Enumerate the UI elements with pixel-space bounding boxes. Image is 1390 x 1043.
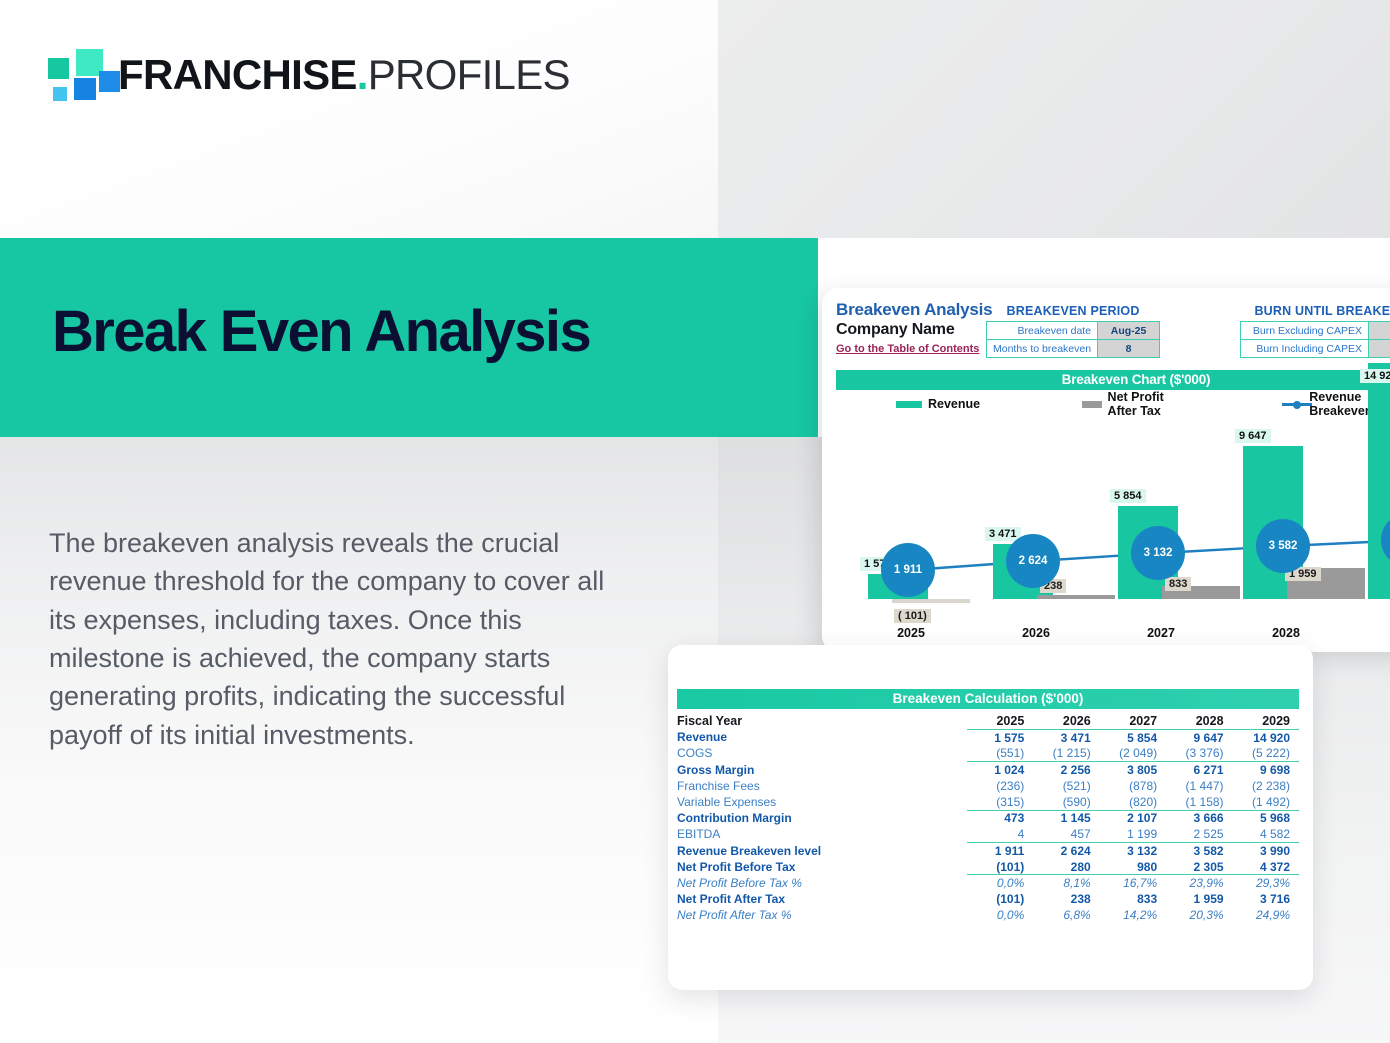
- burn-including-capex-value: [1369, 340, 1390, 358]
- breakeven-bubble-2028: 3 582: [1256, 519, 1310, 573]
- table-cell: 1 024: [967, 762, 1033, 778]
- table-cell: 4 582: [1233, 826, 1299, 842]
- months-to-breakeven-label: Months to breakeven: [987, 340, 1098, 358]
- x-axis-label-2025: 2025: [868, 626, 954, 640]
- breakeven-period-heading: BREAKEVEN PERIOD: [986, 304, 1160, 318]
- brand-name-light: PROFILES: [368, 51, 570, 98]
- row-label: Revenue Breakeven level: [677, 843, 967, 859]
- table-cell: (315): [967, 794, 1033, 810]
- legend-label-revenue: Revenue: [928, 397, 980, 411]
- table-cell: (590): [1033, 794, 1099, 810]
- table-cell: 2 525: [1166, 826, 1232, 842]
- table-row: Net Profit After Tax %0,0%6,8%14,2%20,3%…: [677, 907, 1299, 923]
- breakeven-calculation-card: Breakeven Calculation ($'000) Fiscal Yea…: [668, 645, 1313, 990]
- legend-label-npat: Net Profit After Tax: [1108, 390, 1192, 418]
- table-cell: 8,1%: [1033, 875, 1099, 891]
- table-cell: 0,0%: [967, 875, 1033, 891]
- table-cell: 980: [1100, 859, 1166, 875]
- column-header-2029: 2029: [1233, 713, 1299, 729]
- chart-legend: Revenue Net Profit After Tax Revenue Bre…: [836, 394, 1390, 414]
- table-row: Net Profit Before Tax %0,0%8,1%16,7%23,9…: [677, 875, 1299, 891]
- table-cell: 3 471: [1033, 729, 1099, 745]
- row-label: Net Profit After Tax: [677, 891, 967, 907]
- row-label: Net Profit Before Tax %: [677, 875, 967, 891]
- table-cell: 280: [1033, 859, 1099, 875]
- table-cell: 6 271: [1166, 762, 1232, 778]
- table-cell: 3 666: [1166, 810, 1232, 826]
- table-cell: (3 376): [1166, 745, 1232, 761]
- breakeven-period-table: Breakeven date Aug-25 Months to breakeve…: [986, 321, 1160, 358]
- line-marker-icon: [1282, 399, 1305, 409]
- background-panel-top-left: [0, 0, 718, 238]
- burn-until-breakeven-heading: BURN UNTIL BREAKEVEN: [1240, 304, 1390, 318]
- row-label: Variable Expenses: [677, 794, 967, 810]
- logo-mark-icon: [45, 47, 107, 103]
- blue-square-2-icon: [99, 71, 120, 92]
- table-cell: (820): [1100, 794, 1166, 810]
- revenue-label-2029: 14 920: [1360, 369, 1390, 383]
- row-label: COGS: [677, 745, 967, 761]
- table-cell: 2 256: [1033, 762, 1099, 778]
- legend-item-revenue: Revenue: [896, 397, 980, 411]
- table-row: EBITDA44571 1992 5254 582: [677, 826, 1299, 842]
- table-cell: 2 624: [1033, 843, 1099, 859]
- row-label: Contribution Margin: [677, 810, 967, 826]
- breakeven-period-box: BREAKEVEN PERIOD Breakeven date Aug-25 M…: [986, 304, 1160, 358]
- table-row: Months to breakeven 8: [987, 340, 1160, 358]
- burn-including-capex-label: Burn Including CAPEX: [1241, 340, 1369, 358]
- table-cell: 3 716: [1233, 891, 1299, 907]
- x-axis-label-2026: 2026: [993, 626, 1079, 640]
- revenue-swatch-icon: [896, 401, 922, 408]
- row-label: Gross Margin: [677, 762, 967, 778]
- hero-body-text: The breakeven analysis reveals the cruci…: [49, 524, 619, 754]
- table-cell: (1 215): [1033, 745, 1099, 761]
- table-row: Burn Excluding CAPEX: [1241, 322, 1390, 340]
- table-cell: 9 647: [1166, 729, 1232, 745]
- blue-square-icon: [74, 78, 96, 100]
- brand-dot: .: [357, 51, 368, 98]
- revenue-label-2028: 9 647: [1235, 429, 1271, 443]
- breakeven-date-label: Breakeven date: [987, 322, 1098, 340]
- column-header-2026: 2026: [1033, 713, 1099, 729]
- table-cell: 20,3%: [1166, 907, 1232, 923]
- column-header-fiscal-year: Fiscal Year: [677, 713, 967, 729]
- table-cell: (1 447): [1166, 778, 1232, 794]
- table-cell: (2 238): [1233, 778, 1299, 794]
- table-row: Revenue1 5753 4715 8549 64714 920: [677, 729, 1299, 745]
- table-cell: 14 920: [1233, 729, 1299, 745]
- table-cell: 1 199: [1100, 826, 1166, 842]
- x-axis-label-2027: 2027: [1118, 626, 1204, 640]
- table-row: Net Profit Before Tax(101)2809802 3054 3…: [677, 859, 1299, 875]
- legend-item-npat: Net Profit After Tax: [1082, 390, 1192, 418]
- table-row: Franchise Fees(236)(521)(878)(1 447)(2 2…: [677, 778, 1299, 794]
- table-cell: 16,7%: [1100, 875, 1166, 891]
- table-cell: 3 132: [1100, 843, 1166, 859]
- table-cell: 6,8%: [1033, 907, 1099, 923]
- table-cell: (101): [967, 891, 1033, 907]
- table-cell: 457: [1033, 826, 1099, 842]
- burn-until-breakeven-box: BURN UNTIL BREAKEVEN Burn Excluding CAPE…: [1240, 304, 1390, 358]
- chart-card-header: Breakeven Analysis Company Name Go to th…: [822, 288, 1390, 366]
- table-row: Burn Including CAPEX: [1241, 340, 1390, 358]
- x-axis-label-2028: 2028: [1243, 626, 1329, 640]
- table-header-row: Fiscal Year 2025 2026 2027 2028 2029: [677, 713, 1299, 729]
- table-row: Revenue Breakeven level1 9112 6243 1323 …: [677, 843, 1299, 859]
- table-cell: (521): [1033, 778, 1099, 794]
- table-cell: (878): [1100, 778, 1166, 794]
- row-label: Revenue: [677, 729, 967, 745]
- burn-until-breakeven-table: Burn Excluding CAPEX Burn Including CAPE…: [1240, 321, 1390, 358]
- table-cell: 29,3%: [1233, 875, 1299, 891]
- npat-label-2025: ( 101): [894, 609, 931, 623]
- slide-canvas: FRANCHISE.PROFILES Break Even Analysis T…: [0, 0, 1390, 1043]
- row-label: EBITDA: [677, 826, 967, 842]
- table-cell: 2 305: [1166, 859, 1232, 875]
- npat-label-2027: 833: [1165, 577, 1191, 591]
- row-label: Net Profit Before Tax: [677, 859, 967, 875]
- x-axis-label-2029: 2029: [1368, 626, 1390, 640]
- breakeven-bubble-2026: 2 624: [1006, 534, 1060, 588]
- table-cell: 1 959: [1166, 891, 1232, 907]
- table-cell: 1 911: [967, 843, 1033, 859]
- table-cell: 1 145: [1033, 810, 1099, 826]
- breakeven-chart-card: Breakeven Analysis Company Name Go to th…: [822, 288, 1390, 652]
- brand-wordmark: FRANCHISE.PROFILES: [118, 54, 570, 96]
- breakeven-bubble-2025: 1 911: [881, 543, 935, 597]
- table-cell: 23,9%: [1166, 875, 1232, 891]
- table-cell: 0,0%: [967, 907, 1033, 923]
- table-cell: 9 698: [1233, 762, 1299, 778]
- months-to-breakeven-value: 8: [1098, 340, 1160, 358]
- breakeven-chart-plot: 1 575 ( 101) 1 911 2025 3 471 238 2 624 …: [836, 416, 1390, 652]
- chart-banner-title: Breakeven Chart ($'000): [836, 370, 1390, 390]
- revenue-bar-2029: [1368, 363, 1390, 599]
- breakeven-bubble-2027: 3 132: [1131, 526, 1185, 580]
- table-cell: 3 582: [1166, 843, 1232, 859]
- table-cell: (236): [967, 778, 1033, 794]
- table-cell: 4 372: [1233, 859, 1299, 875]
- table-cell: 5 968: [1233, 810, 1299, 826]
- column-header-2028: 2028: [1166, 713, 1232, 729]
- table-row: Breakeven date Aug-25: [987, 322, 1160, 340]
- npat-bar-2026: [1037, 595, 1115, 599]
- column-header-2025: 2025: [967, 713, 1033, 729]
- table-of-contents-link[interactable]: Go to the Table of Contents: [836, 343, 979, 355]
- table-cell: 473: [967, 810, 1033, 826]
- npat-swatch-icon: [1082, 401, 1101, 408]
- table-cell: 1 575: [967, 729, 1033, 745]
- table-cell: (1 158): [1166, 794, 1232, 810]
- table-body: Revenue1 5753 4715 8549 64714 920COGS(55…: [677, 729, 1299, 923]
- bar-group-2029: [1368, 363, 1390, 599]
- breakeven-date-value: Aug-25: [1098, 322, 1160, 340]
- table-cell: (101): [967, 859, 1033, 875]
- table-cell: (1 492): [1233, 794, 1299, 810]
- table-cell: 4: [967, 826, 1033, 842]
- column-header-2027: 2027: [1100, 713, 1166, 729]
- cyan-square-icon: [53, 87, 67, 101]
- table-row: Gross Margin1 0242 2563 8056 2719 698: [677, 762, 1299, 778]
- table-cell: 238: [1033, 891, 1099, 907]
- row-label: Franchise Fees: [677, 778, 967, 794]
- table-cell: (2 049): [1100, 745, 1166, 761]
- table-cell: 5 854: [1100, 729, 1166, 745]
- background-panel-top-right: [718, 0, 1390, 238]
- brand-name-bold: FRANCHISE: [118, 51, 357, 98]
- table-cell: (551): [967, 745, 1033, 761]
- table-cell: 833: [1100, 891, 1166, 907]
- burn-excluding-capex-label: Burn Excluding CAPEX: [1241, 322, 1369, 340]
- table-banner-title: Breakeven Calculation ($'000): [677, 689, 1299, 709]
- burn-excluding-capex-value: [1369, 322, 1390, 340]
- table-cell: 24,9%: [1233, 907, 1299, 923]
- npat-bar-2025: [892, 599, 970, 603]
- row-label: Net Profit After Tax %: [677, 907, 967, 923]
- teal-square-icon: [48, 58, 69, 79]
- table-row: Variable Expenses(315)(590)(820)(1 158)(…: [677, 794, 1299, 810]
- table-row: Contribution Margin4731 1452 1073 6665 9…: [677, 810, 1299, 826]
- table-cell: 3 990: [1233, 843, 1299, 859]
- brand-logo: FRANCHISE.PROFILES: [45, 44, 570, 106]
- table-row: COGS(551)(1 215)(2 049)(3 376)(5 222): [677, 745, 1299, 761]
- page-title: Break Even Analysis: [52, 303, 590, 361]
- table-cell: 2 107: [1100, 810, 1166, 826]
- table-cell: 3 805: [1100, 762, 1166, 778]
- revenue-label-2027: 5 854: [1110, 489, 1146, 503]
- breakeven-calculation-table: Fiscal Year 2025 2026 2027 2028 2029 Rev…: [677, 713, 1299, 923]
- table-cell: 14,2%: [1100, 907, 1166, 923]
- table-row: Net Profit After Tax(101)2388331 9593 71…: [677, 891, 1299, 907]
- table-cell: (5 222): [1233, 745, 1299, 761]
